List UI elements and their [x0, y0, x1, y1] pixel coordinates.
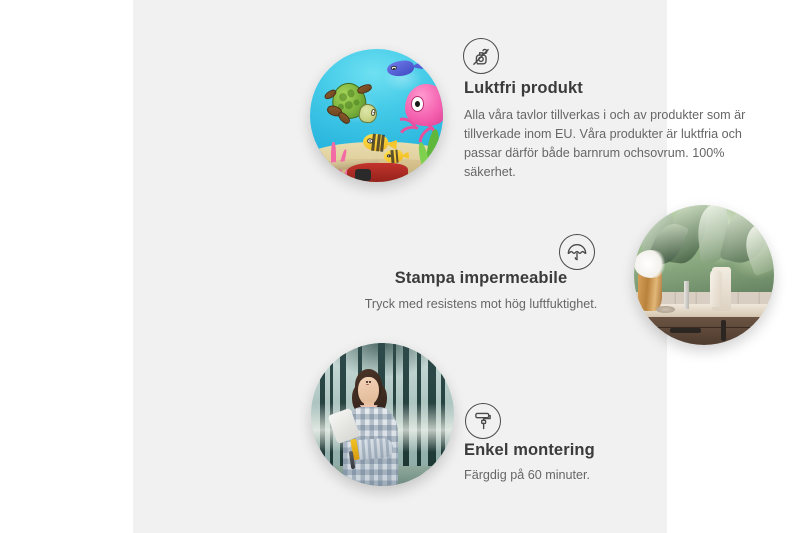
wooden-vanity-cabinet — [634, 317, 774, 345]
feature-title: Stampa impermeabile — [343, 268, 619, 289]
feature-icon-odourless — [463, 38, 499, 74]
installer-person — [335, 369, 409, 486]
soap-dish — [656, 306, 674, 313]
feature-text-odourless: Luktfri produkt Alla våra tavlor tillver… — [464, 78, 760, 182]
feature-icon-easy-mounting — [465, 403, 501, 439]
octopus-eye — [411, 96, 424, 111]
forest-scene — [311, 343, 454, 486]
drawer-handle — [670, 328, 701, 333]
feature-text-easy-mounting: Enkel montering Färgdig på 60 minuter. — [464, 440, 754, 485]
feature-description: Tryck med resistens mot hög luftfuktighe… — [343, 295, 619, 314]
feature-text-waterproof: Stampa impermeabile Tryck med resistens … — [343, 268, 619, 314]
shipwreck-opening — [355, 169, 371, 181]
turtle-eye — [370, 109, 376, 116]
faucet — [684, 281, 688, 309]
octopus-head — [405, 84, 443, 127]
turtle-flipper — [356, 83, 373, 95]
turtle-illustration — [329, 81, 388, 129]
cabinet-handle — [721, 320, 727, 341]
paint-roller-icon — [465, 403, 501, 439]
feature-image-underwater — [310, 49, 443, 182]
product-features-panel: Luktfri produkt Alla våra tavlor tillver… — [133, 0, 667, 533]
white-flowers — [634, 250, 668, 278]
feature-description: Alla våra tavlor tillverkas i och av pro… — [464, 106, 760, 183]
turtle-head — [358, 102, 379, 124]
soap-dispenser — [710, 271, 723, 307]
feature-title: Luktfri produkt — [464, 78, 760, 99]
feature-icon-waterproof — [559, 234, 595, 270]
feature-image-forest-installer — [311, 343, 454, 486]
umbrella-icon — [559, 234, 595, 270]
feature-description: Färgdig på 60 minuter. — [464, 466, 754, 485]
no-odour-perfume-icon — [463, 38, 499, 74]
feature-image-bathroom — [634, 205, 774, 345]
bathroom-scene — [634, 205, 774, 345]
yellow-fish — [384, 149, 404, 164]
feature-title: Enkel montering — [464, 440, 754, 461]
underwater-scene — [310, 49, 443, 182]
